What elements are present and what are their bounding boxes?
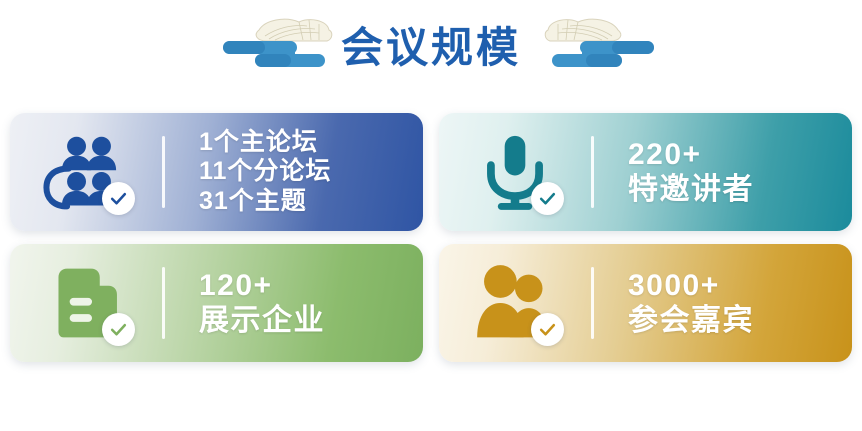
- stat-line: 11个分论坛: [199, 157, 409, 187]
- stat-line: 120+: [199, 268, 409, 303]
- check-badge-attendees: [531, 313, 564, 346]
- stat-text-attendees: 3000+ 参会嘉宾: [594, 268, 852, 339]
- check-badge-exhibitors: [102, 313, 135, 346]
- stat-text-forums: 1个主论坛 11个分论坛 31个主题: [165, 128, 423, 217]
- icon-area-speakers: [439, 113, 591, 231]
- stat-text-exhibitors: 120+ 展示企业: [165, 268, 423, 339]
- cloud-ornament-right-icon: [512, 6, 662, 84]
- stat-card-forums[interactable]: 1个主论坛 11个分论坛 31个主题: [10, 113, 423, 231]
- check-badge-speakers: [531, 182, 564, 215]
- icon-area-exhibitors: [10, 244, 162, 362]
- page-title: 会议规模: [341, 27, 521, 69]
- stat-line: 1个主论坛: [199, 128, 409, 158]
- stat-card-attendees[interactable]: 3000+ 参会嘉宾: [439, 244, 852, 362]
- icon-area-forums: [10, 113, 162, 231]
- check-icon: [538, 320, 557, 339]
- stat-text-speakers: 220+ 特邀讲者: [594, 137, 852, 208]
- icon-area-attendees: [439, 244, 591, 362]
- stat-line: 参会嘉宾: [628, 303, 838, 338]
- check-icon: [538, 189, 557, 208]
- check-icon: [109, 189, 128, 208]
- stat-line: 3000+: [628, 268, 838, 303]
- stat-line: 31个主题: [199, 187, 409, 217]
- stats-card-grid: 1个主论坛 11个分论坛 31个主题 220+: [10, 113, 852, 362]
- stat-line: 220+: [628, 137, 838, 172]
- check-icon: [109, 320, 128, 339]
- stat-card-speakers[interactable]: 220+ 特邀讲者: [439, 113, 852, 231]
- page-header: 会议规模: [0, 0, 862, 96]
- stat-line: 展示企业: [199, 303, 409, 338]
- stat-line: 特邀讲者: [628, 172, 838, 207]
- check-badge-forums: [102, 182, 135, 215]
- stat-card-exhibitors[interactable]: 120+ 展示企业: [10, 244, 423, 362]
